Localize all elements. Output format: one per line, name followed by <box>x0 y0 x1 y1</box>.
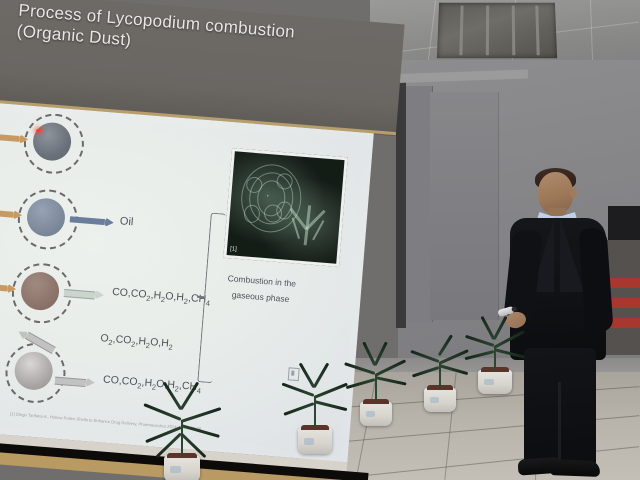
stage-2-outflow-label: Oil <box>119 215 133 228</box>
laser-pointer-dot <box>36 129 41 132</box>
door-frame <box>396 78 406 328</box>
wall-panel-left <box>402 86 433 322</box>
slide-corner-mark <box>288 367 300 381</box>
presenter-arm-right <box>578 227 613 333</box>
slide-body: Oil CO,CO2,H2O,H2,CH4 <box>0 102 374 462</box>
wall-panel <box>430 92 499 320</box>
presenter-ear <box>570 188 577 198</box>
stage-2-inflow-arrow <box>0 207 22 220</box>
brace-label: Combustion in the gaseous phase <box>226 270 297 307</box>
stage-1-inflow-arrow <box>0 131 29 144</box>
pollen-micrograph: [1] <box>223 148 347 267</box>
presenter <box>496 168 616 480</box>
stage-4-inflow-label: O2,CO2,H2O,H2 <box>100 332 174 352</box>
presenter-shoe-right <box>550 459 601 477</box>
presenter-leg-separation <box>558 382 561 460</box>
ceiling-light-panel <box>437 3 557 58</box>
photo-scene: Process of Lycopodium combustion (Organi… <box>0 0 640 480</box>
stage-4-outflow-label: CO,CO2,H2O,H2,CH4 <box>103 373 202 395</box>
stage-3-outflow-label: CO,CO2,H2O,H2,CH4 <box>112 286 211 308</box>
micrograph-citation: [1] <box>230 246 237 253</box>
